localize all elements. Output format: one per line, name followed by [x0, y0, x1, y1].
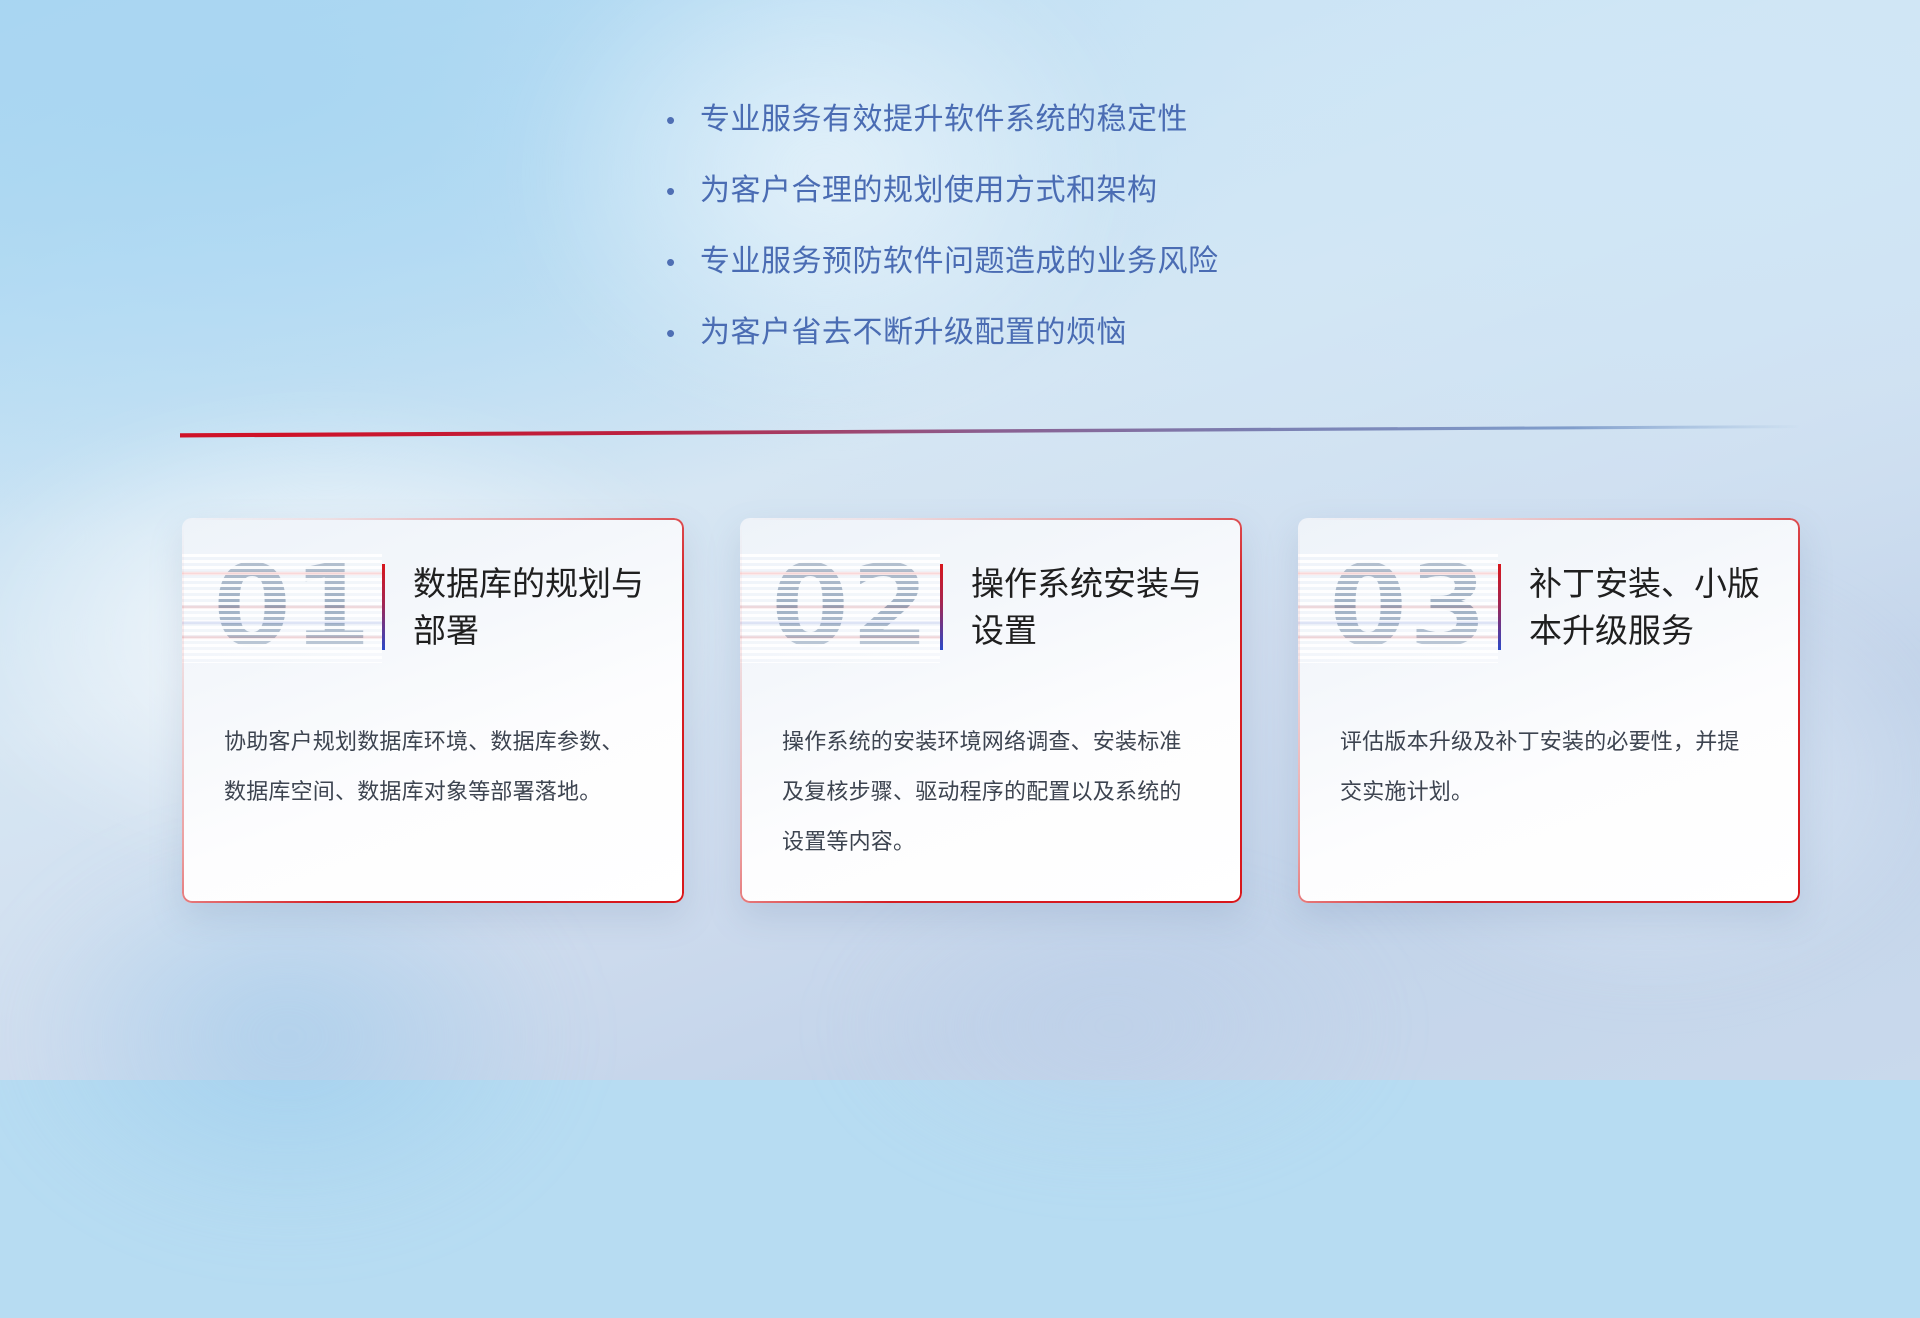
card-accent-rule — [382, 564, 385, 650]
bullet-text: 为客户省去不断升级配置的烦恼 — [700, 313, 1127, 353]
card-number-badge: 02 — [740, 551, 940, 663]
bullet-text: 专业服务预防软件问题造成的业务风险 — [700, 242, 1219, 282]
card-accent-rule — [1498, 564, 1501, 650]
card-description: 协助客户规划数据库环境、数据库参数、数据库空间、数据库对象等部署落地。 — [182, 696, 684, 818]
bullet-dot-icon: • — [660, 313, 700, 353]
card-number-text: 01 — [213, 551, 373, 663]
list-item: • 专业服务有效提升软件系统的稳定性 — [660, 100, 1560, 140]
list-item: • 为客户省去不断升级配置的烦恼 — [660, 313, 1560, 353]
card-number-badge: 01 — [182, 551, 382, 663]
card-header: 01 数据库的规划与部署 — [182, 518, 684, 696]
bullet-text: 为客户合理的规划使用方式和架构 — [700, 171, 1158, 211]
divider-tapered-line — [180, 420, 1800, 442]
list-item: • 专业服务预防软件问题造成的业务风险 — [660, 242, 1560, 282]
card-content: 03 补丁安装、小版本升级服务 评估版本升级及补丁安装的必要性，并提交实施计划。 — [1298, 518, 1800, 903]
card-number-badge: 03 — [1298, 551, 1498, 663]
service-card-grid: 01 数据库的规划与部署 协助客户规划数据库环境、数据库参数、数据库空间、数据库… — [182, 518, 1802, 918]
card-number-text: 02 — [771, 551, 931, 663]
bullet-text: 专业服务有效提升软件系统的稳定性 — [700, 100, 1188, 140]
service-card[interactable]: 01 数据库的规划与部署 协助客户规划数据库环境、数据库参数、数据库空间、数据库… — [182, 518, 684, 903]
card-content: 02 操作系统安装与设置 操作系统的安装环境网络调查、安装标准及复核步骤、驱动程… — [740, 518, 1242, 903]
card-accent-rule — [940, 564, 943, 650]
bullet-dot-icon: • — [660, 171, 700, 211]
card-title: 操作系统安装与设置 — [971, 560, 1242, 654]
card-description: 评估版本升级及补丁安装的必要性，并提交实施计划。 — [1298, 696, 1800, 818]
service-card[interactable]: 02 操作系统安装与设置 操作系统的安装环境网络调查、安装标准及复核步骤、驱动程… — [740, 518, 1242, 903]
benefits-bullet-list: • 专业服务有效提升软件系统的稳定性 • 为客户合理的规划使用方式和架构 • 专… — [660, 100, 1560, 384]
list-item: • 为客户合理的规划使用方式和架构 — [660, 171, 1560, 211]
card-description: 操作系统的安装环境网络调查、安装标准及复核步骤、驱动程序的配置以及系统的设置等内… — [740, 696, 1242, 868]
card-content: 01 数据库的规划与部署 协助客户规划数据库环境、数据库参数、数据库空间、数据库… — [182, 518, 684, 903]
card-header: 02 操作系统安装与设置 — [740, 518, 1242, 696]
bullet-dot-icon: • — [660, 242, 700, 282]
card-title: 数据库的规划与部署 — [413, 560, 684, 654]
card-number-text: 03 — [1329, 551, 1489, 663]
service-card[interactable]: 03 补丁安装、小版本升级服务 评估版本升级及补丁安装的必要性，并提交实施计划。 — [1298, 518, 1800, 903]
card-header: 03 补丁安装、小版本升级服务 — [1298, 518, 1800, 696]
card-title: 补丁安装、小版本升级服务 — [1529, 560, 1800, 654]
section-divider — [180, 420, 1800, 442]
bullet-dot-icon: • — [660, 100, 700, 140]
